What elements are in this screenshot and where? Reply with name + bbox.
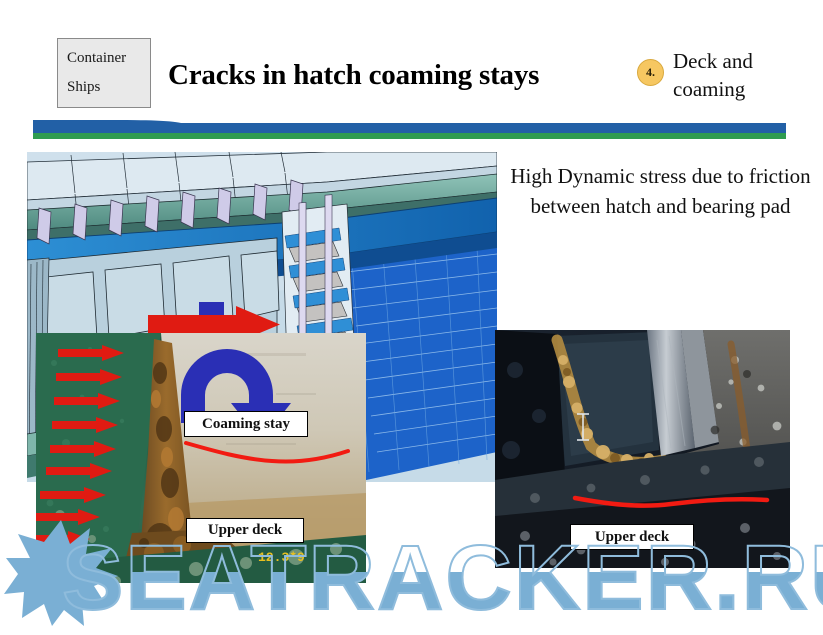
header-divider-bar [33, 123, 786, 139]
section-number-badge: 4. [637, 59, 664, 86]
body-text: High Dynamic stress due to friction betw… [508, 162, 813, 222]
callout-upper-deck-right: Upper deck [570, 524, 694, 550]
section-label: Deck and coaming [673, 48, 813, 103]
callout-coaming-stay: Coaming stay [184, 411, 308, 437]
divider-green-band [33, 133, 786, 139]
category-line-1: Container [67, 44, 150, 73]
page-title: Cracks in hatch coaming stays [168, 59, 588, 92]
divider-blue-band [33, 123, 786, 133]
callout-upper-deck-left: Upper deck [186, 518, 304, 543]
presentation-slide: Container Ships Cracks in hatch coaming … [0, 0, 823, 635]
category-box: Container Ships [57, 38, 151, 108]
photo-timestamp: 12.3*9 [258, 550, 305, 565]
category-line-2: Ships [67, 73, 150, 102]
